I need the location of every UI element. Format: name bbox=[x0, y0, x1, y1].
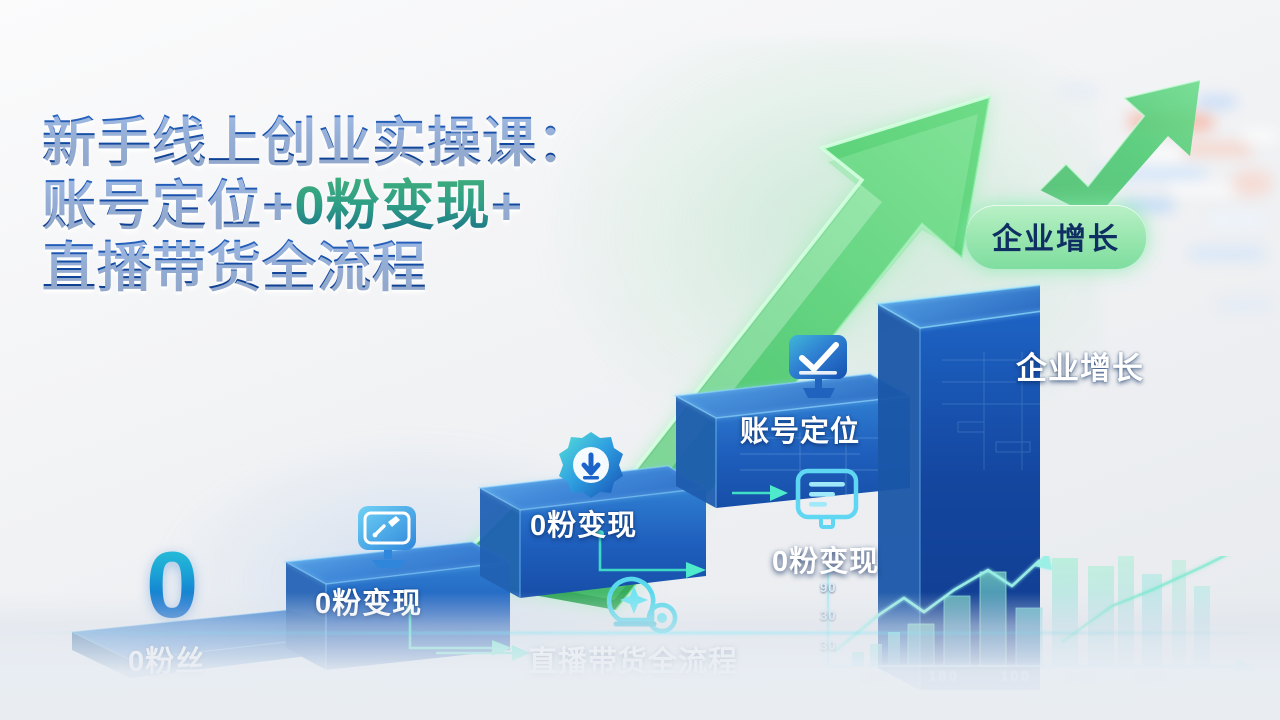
floor-glow-line bbox=[0, 632, 1280, 634]
bokeh-streak bbox=[1216, 300, 1272, 310]
flow-arrow-mid-icon bbox=[732, 482, 790, 504]
bokeh-streak bbox=[1208, 214, 1266, 226]
bokeh-streak bbox=[1232, 170, 1272, 196]
title-line-2: 账号定位+0粉变现+ bbox=[42, 175, 742, 238]
step-label-account-positioning: 账号定位 bbox=[740, 408, 860, 450]
bokeh-streak bbox=[1240, 128, 1280, 144]
enterprise-growth-badge: 企业增长 bbox=[966, 205, 1146, 269]
title-line-2-suffix: + bbox=[491, 176, 524, 236]
poster-canvas: 90 30 30 :00 180 100 040 000 bbox=[0, 0, 1280, 720]
title-line-2-highlight: 0粉变现 bbox=[295, 176, 491, 236]
floor-reflection bbox=[0, 592, 1280, 720]
step-label-enterprise-growth: 企业增长 bbox=[1016, 343, 1144, 388]
document-monitor-icon bbox=[790, 466, 870, 540]
poster-title: 新手线上创业实操课： 账号定位+0粉变现+ 直播带货全流程 bbox=[42, 112, 742, 300]
step-label-0fen-2: 0粉变现 bbox=[530, 502, 637, 544]
check-monitor-icon bbox=[784, 330, 856, 404]
title-line-2-prefix: 账号定位+ bbox=[42, 176, 295, 236]
growth-arrow-small-icon bbox=[1040, 78, 1210, 218]
floating-label-0fen: 0粉变现 bbox=[772, 538, 879, 580]
gear-download-icon bbox=[556, 430, 626, 500]
title-line-3: 直播带货全流程 bbox=[42, 237, 742, 300]
title-line-1: 新手线上创业实操课： bbox=[42, 112, 742, 175]
bokeh-streak bbox=[1190, 248, 1264, 259]
monitor-pen-icon bbox=[352, 500, 426, 572]
